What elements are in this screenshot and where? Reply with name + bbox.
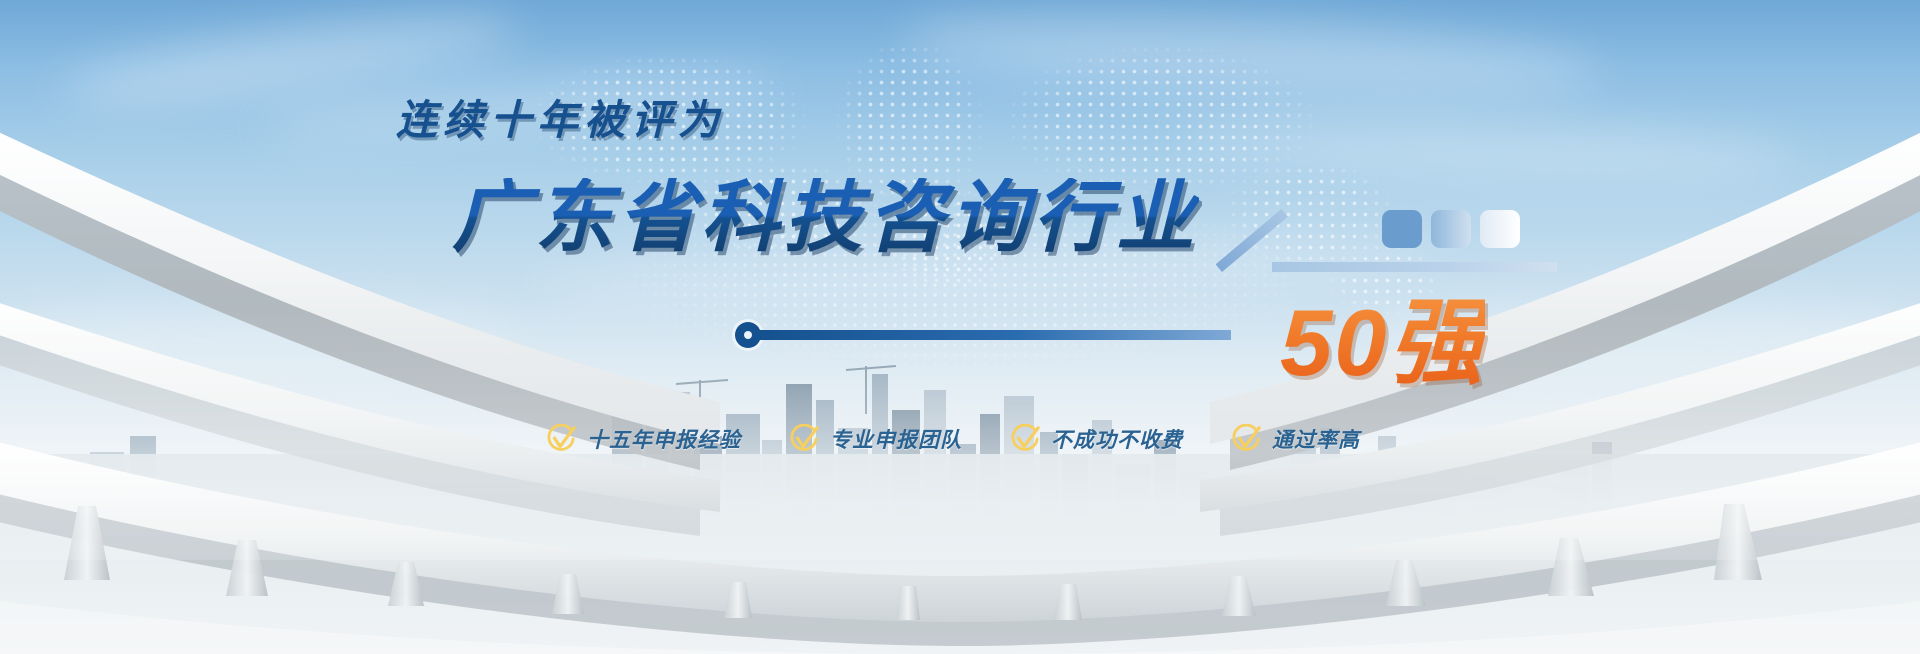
banner-content: 连续十年被评为 广东省科技咨询行业 50强 十五年申报经验 <box>0 0 1920 654</box>
promotional-banner: 连续十年被评为 广东省科技咨询行业 50强 十五年申报经验 <box>0 0 1920 654</box>
feature-badge-label: 不成功不收费 <box>1051 424 1183 454</box>
banner-headline-text: 广东省科技咨询行业 <box>452 178 1199 256</box>
decor-square-fade-icon <box>1431 210 1471 248</box>
check-circle-icon <box>1231 424 1261 454</box>
feature-badge: 专业申报团队 <box>789 424 962 454</box>
feature-badge: 通过率高 <box>1231 424 1360 454</box>
connector-line-upper <box>1272 262 1557 272</box>
feature-badge-label: 通过率高 <box>1272 424 1360 454</box>
feature-badge: 十五年申报经验 <box>546 424 741 454</box>
check-circle-icon <box>546 424 576 454</box>
feature-badge-list: 十五年申报经验 专业申报团队 不成功不收费 <box>546 424 1360 454</box>
feature-badge-label: 十五年申报经验 <box>587 424 741 454</box>
check-circle-icon <box>1010 424 1040 454</box>
decor-square-solid-icon <box>1382 210 1422 248</box>
check-circle-icon <box>789 424 819 454</box>
decor-square-light-icon <box>1480 210 1520 248</box>
connector-line-horizontal <box>758 330 1231 340</box>
rank-badge-text: 50强 <box>1280 296 1485 390</box>
decorative-squares-group <box>1382 210 1520 248</box>
feature-badge: 不成功不收费 <box>1010 424 1183 454</box>
banner-kicker-text: 连续十年被评为 <box>396 86 725 146</box>
feature-badge-label: 专业申报团队 <box>830 424 962 454</box>
